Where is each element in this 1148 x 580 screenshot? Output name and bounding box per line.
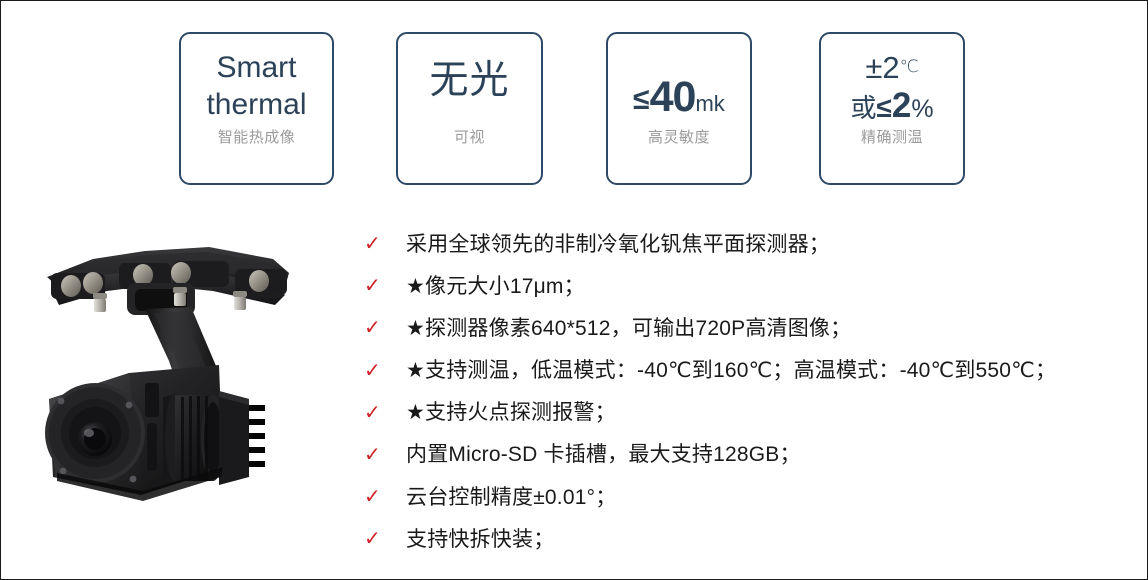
feature-bullet-list: ✓ 采用全球领先的非制冷氧化钒焦平面探测器； ✓ ★像元大小17μm； ✓ ★探…: [359, 223, 1139, 561]
list-item: ✓ ★探测器像素640*512，可输出720P高清图像；: [359, 307, 1139, 349]
product-feature-panel: Smart thermal 智能热成像 无光 可视 ≤40mk 高灵敏度 ±2℃…: [0, 0, 1148, 580]
list-item: ✓ 采用全球领先的非制冷氧化钒焦平面探测器；: [359, 223, 1139, 265]
list-item-label: 采用全球领先的非制冷氧化钒焦平面探测器；: [406, 232, 830, 257]
accuracy-prefix: 或: [850, 93, 876, 123]
accuracy-operator: ≤: [876, 92, 891, 123]
list-item-label: ★探测器像素640*512，可输出720P高清图像；: [406, 316, 851, 341]
feature-card-main-no-light: 无光: [398, 34, 541, 100]
list-item-label: ★支持火点探测报警；: [406, 400, 616, 425]
list-item: ✓ ★支持测温，低温模式：-40℃到160℃；高温模式：-40℃到550℃；: [359, 350, 1139, 392]
accuracy-unit: ℃: [900, 57, 919, 76]
accuracy-percent-value: 2: [892, 86, 911, 125]
check-icon: ✓: [359, 403, 406, 423]
accuracy-line1: ±2℃: [821, 52, 963, 85]
check-icon: ✓: [359, 318, 406, 338]
list-item-label: ★支持测温，低温模式：-40℃到160℃；高温模式：-40℃到550℃；: [406, 358, 1056, 383]
feature-card-subtitle-sensitivity: 高灵敏度: [608, 126, 750, 147]
sensitivity-operator: ≤: [633, 83, 649, 116]
sensitivity-unit: mk: [695, 91, 724, 116]
check-icon: ✓: [359, 234, 406, 254]
list-item: ✓ ★支持火点探测报警；: [359, 392, 1139, 434]
feature-card-sensitivity: ≤40mk 高灵敏度: [606, 32, 752, 185]
feature-card-main-smart-thermal: Smart thermal: [181, 34, 332, 124]
list-item: ✓ 支持快拆快装；: [359, 518, 1139, 560]
check-icon: ✓: [359, 445, 406, 465]
list-item: ✓ ★像元大小17μm；: [359, 265, 1139, 307]
feature-card-subtitle-no-light: 可视: [398, 126, 541, 147]
feature-card-subtitle-smart-thermal: 智能热成像: [181, 126, 332, 147]
accuracy-line2: 或≤2%: [821, 87, 963, 124]
sensitivity-value: 40: [650, 73, 696, 121]
check-icon: ✓: [359, 276, 406, 296]
feature-card-main-sensitivity: ≤40mk: [608, 34, 750, 119]
check-icon: ✓: [359, 529, 406, 549]
list-item-label: 云台控制精度±0.01°；: [406, 485, 616, 510]
list-item: ✓ 内置Micro-SD 卡插槽，最大支持128GB；: [359, 434, 1139, 476]
accuracy-percent-unit: %: [911, 95, 933, 123]
feature-card-main-accuracy: ±2℃ 或≤2%: [821, 34, 963, 124]
list-item: ✓ 云台控制精度±0.01°；: [359, 476, 1139, 518]
accuracy-value: ±2: [865, 50, 899, 85]
feature-card-accuracy: ±2℃ 或≤2% 精确测温: [819, 32, 965, 185]
check-icon: ✓: [359, 487, 406, 507]
product-image-gimbal-camera: [23, 233, 307, 521]
list-item-label: 支持快拆快装；: [406, 527, 554, 552]
smart-thermal-line1: Smart: [181, 50, 332, 87]
list-item-label: 内置Micro-SD 卡插槽，最大支持128GB；: [406, 442, 801, 467]
feature-card-smart-thermal: Smart thermal 智能热成像: [179, 32, 334, 185]
feature-card-row: Smart thermal 智能热成像 无光 可视 ≤40mk 高灵敏度 ±2℃…: [179, 32, 965, 185]
check-icon: ✓: [359, 361, 406, 381]
feature-card-subtitle-accuracy: 精确测温: [821, 126, 963, 147]
feature-card-no-light: 无光 可视: [396, 32, 543, 185]
smart-thermal-line2: thermal: [181, 87, 332, 124]
list-item-label: ★像元大小17μm；: [406, 274, 585, 299]
